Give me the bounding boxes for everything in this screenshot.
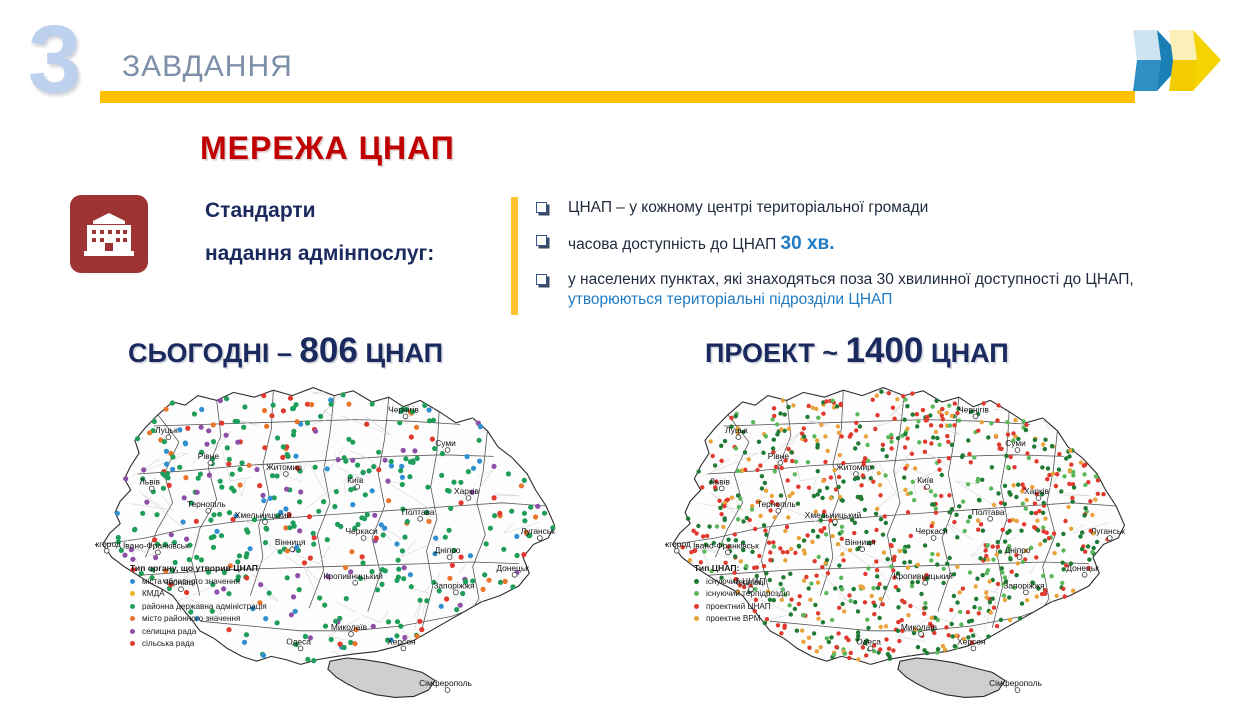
map-data-point xyxy=(305,657,310,662)
map-data-point xyxy=(830,534,834,538)
city-marker-icon xyxy=(284,472,289,477)
map-data-point xyxy=(778,546,782,550)
slide: 3 ЗАВДАННЯ МЕРЕЖА ЦНАП Стандарти xyxy=(0,0,1253,705)
map-data-point xyxy=(295,573,300,578)
map-data-point xyxy=(923,450,927,454)
map-data-point xyxy=(764,533,768,537)
map-data-point xyxy=(829,475,833,479)
map-data-point xyxy=(431,418,436,423)
map-data-point xyxy=(974,597,978,601)
map-data-point xyxy=(802,538,806,542)
map-data-point xyxy=(383,458,388,463)
map-data-point xyxy=(336,457,341,462)
map-data-point xyxy=(719,444,723,448)
map-data-point xyxy=(338,642,343,647)
city-label: Херсон xyxy=(387,636,416,646)
map-data-point xyxy=(305,420,310,425)
map-data-point xyxy=(995,624,999,628)
map-data-point xyxy=(291,594,296,599)
map-data-point xyxy=(957,504,961,508)
map-data-point xyxy=(1038,542,1042,546)
rayon-border xyxy=(473,639,496,652)
map-data-point xyxy=(891,648,895,652)
map-data-point xyxy=(838,495,842,499)
map-data-point xyxy=(1050,444,1054,448)
map-data-point xyxy=(405,519,410,524)
map-data-point xyxy=(1019,529,1023,533)
city-label: Одеса xyxy=(286,636,311,646)
map-data-point xyxy=(1003,598,1007,602)
map-data-point xyxy=(322,603,327,608)
map-data-point xyxy=(686,517,690,521)
map-data-point xyxy=(1072,485,1076,489)
map-data-point xyxy=(161,486,166,491)
map-data-point xyxy=(521,552,526,557)
map-data-point xyxy=(394,541,399,546)
map-data-point xyxy=(288,396,293,401)
map-data-point xyxy=(217,512,222,517)
map-data-point xyxy=(951,634,955,638)
map-data-point xyxy=(930,616,934,620)
map-data-point xyxy=(911,480,915,484)
map-data-point xyxy=(1005,420,1009,424)
map-data-point xyxy=(854,428,858,432)
map-data-point xyxy=(950,414,954,418)
map-data-point xyxy=(757,554,761,558)
map-data-point xyxy=(816,534,820,538)
city-marker-icon xyxy=(925,484,930,489)
city-marker-icon xyxy=(208,460,213,465)
map-data-point xyxy=(1093,497,1097,501)
map-data-point xyxy=(807,486,811,490)
map-data-point xyxy=(892,538,896,542)
city-label: Суми xyxy=(435,438,456,448)
map-data-point xyxy=(919,592,923,596)
rayon-border xyxy=(1087,399,1117,415)
map-data-point xyxy=(302,560,307,565)
map-data-point xyxy=(977,498,981,502)
map-data-point xyxy=(1071,589,1075,593)
map-data-point xyxy=(834,645,838,649)
map-data-point xyxy=(477,438,482,443)
map-data-point xyxy=(363,492,368,497)
map-data-point xyxy=(1092,546,1096,550)
checkbox-bullet-icon xyxy=(536,202,547,213)
city-marker-icon xyxy=(919,632,924,637)
map-data-point xyxy=(451,480,456,485)
map-heading-project-count: 1400 xyxy=(845,331,923,370)
map-data-point xyxy=(697,469,701,473)
map-data-point xyxy=(934,430,938,434)
map-data-point xyxy=(818,528,822,532)
legend-row: місто районного значення xyxy=(130,614,267,623)
map-data-point xyxy=(385,479,390,484)
map-data-point xyxy=(1004,454,1008,458)
map-data-point xyxy=(1003,502,1007,506)
map-data-point xyxy=(147,430,152,435)
map-data-point xyxy=(903,466,907,470)
map-data-point xyxy=(123,476,128,481)
map-data-point xyxy=(700,485,704,489)
map-data-point xyxy=(721,525,725,529)
map-heading-project-pre: ПРОЕКТ ~ xyxy=(705,338,845,368)
map-data-point xyxy=(522,511,527,516)
map-data-point xyxy=(882,550,886,554)
city-label: Сімферополь xyxy=(989,678,1042,688)
legend-color-dot-icon xyxy=(694,604,699,609)
map-data-point xyxy=(996,545,1000,549)
map-data-point xyxy=(231,488,236,493)
city-marker-icon xyxy=(931,536,936,541)
city-label: Тернопіль xyxy=(757,499,797,509)
map-data-point xyxy=(1007,595,1011,599)
checkbox-bullet-icon xyxy=(536,235,547,246)
map-data-point xyxy=(996,403,1000,407)
map-data-point xyxy=(961,499,965,503)
map-data-point xyxy=(819,423,823,427)
map-data-point xyxy=(717,499,721,503)
map-data-point xyxy=(887,391,891,395)
map-data-point xyxy=(903,445,907,449)
city-marker-icon xyxy=(290,547,295,552)
bullet-text-run: ЦНАП – у кожному центрі територіальної г… xyxy=(568,199,928,216)
city-marker-icon xyxy=(401,646,406,651)
rayon-border xyxy=(1043,639,1066,652)
map-data-point xyxy=(468,553,473,558)
rayon-border xyxy=(669,611,696,639)
map-data-point xyxy=(873,427,877,431)
map-data-point xyxy=(950,443,954,447)
map-data-point xyxy=(199,425,204,430)
map-data-point xyxy=(280,455,285,460)
map-data-point xyxy=(1063,594,1067,598)
map-data-point xyxy=(883,586,887,590)
city-label: Київ xyxy=(347,475,364,485)
map-heading-today-post: ЦНАП xyxy=(358,338,443,368)
map-data-point xyxy=(807,636,811,640)
map-data-point xyxy=(785,525,789,529)
city-marker-icon xyxy=(353,580,358,585)
map-data-point xyxy=(318,414,323,419)
map-data-point xyxy=(528,505,533,510)
map-data-point xyxy=(886,435,890,439)
map-data-point xyxy=(813,559,817,563)
map-data-point xyxy=(816,469,820,473)
map-data-point xyxy=(454,607,459,612)
map-data-point xyxy=(902,475,906,479)
map-data-point xyxy=(418,598,423,603)
city-label: Дніпро xyxy=(435,545,461,555)
map-data-point xyxy=(802,434,806,438)
map-data-point xyxy=(780,466,784,470)
city-label: Львів xyxy=(139,476,160,486)
map-data-point xyxy=(141,467,146,472)
map-data-point xyxy=(906,613,910,617)
map-data-point xyxy=(409,434,414,439)
map-data-point xyxy=(860,585,864,589)
map-data-point xyxy=(426,519,431,524)
map-data-point xyxy=(805,533,809,537)
city-marker-icon xyxy=(988,516,993,521)
map-data-point xyxy=(806,460,810,464)
map-data-point xyxy=(734,414,738,418)
map-data-point xyxy=(311,658,316,663)
map-data-point xyxy=(934,507,938,511)
map-data-point xyxy=(813,603,817,607)
legend-row: існуючий терпідрозділ xyxy=(694,589,790,598)
map-data-point xyxy=(779,493,783,497)
map-data-point xyxy=(878,493,882,497)
map-data-point xyxy=(793,551,797,555)
map-data-point xyxy=(865,618,869,622)
map-data-point xyxy=(329,402,334,407)
map-data-point xyxy=(856,630,860,634)
city-label: Полтава xyxy=(972,507,1005,517)
map-data-point xyxy=(905,427,909,431)
map-data-point xyxy=(1041,442,1045,446)
map-data-point xyxy=(923,543,927,547)
map-data-point xyxy=(863,508,867,512)
map-data-point xyxy=(817,555,821,559)
map-data-point xyxy=(909,534,913,538)
map-data-point xyxy=(812,494,816,498)
map-data-point xyxy=(836,485,840,489)
city-marker-icon xyxy=(445,688,450,693)
map-data-point xyxy=(1061,548,1065,552)
map-data-point xyxy=(996,582,1000,586)
map-data-point xyxy=(1025,598,1029,602)
map-data-point xyxy=(533,514,538,519)
map-data-point xyxy=(883,473,887,477)
standards-text: Стандарти надання адмінпослуг: xyxy=(205,200,505,286)
map-data-point xyxy=(848,548,852,552)
map-data-point xyxy=(1087,557,1091,561)
map-data-point xyxy=(736,517,740,521)
rayon-border xyxy=(665,577,675,588)
map-data-point xyxy=(947,493,951,497)
map-data-point xyxy=(224,396,229,401)
map-data-point xyxy=(774,465,778,469)
city-marker-icon xyxy=(971,646,976,651)
map-data-point xyxy=(841,558,845,562)
legend-label: КМДА xyxy=(142,589,165,598)
map-data-point xyxy=(797,602,801,606)
map-data-point xyxy=(263,540,268,545)
map-data-point xyxy=(840,602,844,606)
map-data-point xyxy=(365,512,370,517)
map-data-point xyxy=(824,591,828,595)
bullet-item: ЦНАП – у кожному центрі територіальної г… xyxy=(532,198,1232,218)
map-data-point xyxy=(945,434,949,438)
map-data-point xyxy=(994,434,998,438)
map-data-point xyxy=(864,434,868,438)
legend-row: проектне ВРМ xyxy=(694,614,790,623)
map-data-point xyxy=(1080,530,1084,534)
map-data-point xyxy=(1003,575,1007,579)
map-data-point xyxy=(952,423,956,427)
map-data-point xyxy=(836,424,840,428)
map-data-point xyxy=(939,494,943,498)
map-data-point xyxy=(826,449,830,453)
city-marker-icon xyxy=(833,520,838,525)
map-data-point xyxy=(297,528,302,533)
city-label: Кропивницький xyxy=(324,571,384,581)
map-data-point xyxy=(839,576,843,580)
map-data-point xyxy=(325,466,330,471)
map-data-point xyxy=(1032,444,1036,448)
map-data-point xyxy=(396,567,401,572)
city-label: Полтава xyxy=(402,507,435,517)
map-data-point xyxy=(908,604,912,608)
map-data-point xyxy=(1061,532,1065,536)
map-data-point xyxy=(204,442,209,447)
map-data-point xyxy=(955,600,959,604)
map-data-point xyxy=(501,547,506,552)
map-data-point xyxy=(177,465,182,470)
map-data-point xyxy=(897,639,901,643)
city-label: Одеса xyxy=(856,636,881,646)
map-data-point xyxy=(238,482,243,487)
map-data-point xyxy=(350,502,355,507)
map-data-point xyxy=(460,591,465,596)
map-data-point xyxy=(733,554,737,558)
map-data-point xyxy=(892,555,896,559)
map-data-point xyxy=(853,477,857,481)
map-data-point xyxy=(240,460,245,465)
map-data-point xyxy=(800,628,804,632)
map-data-point xyxy=(972,455,976,459)
map-data-point xyxy=(768,550,772,554)
map-data-point xyxy=(401,448,406,453)
map-project[interactable]: ЛуцькРівнеЛьвівЖитомирЧернігівКиївТерноп… xyxy=(665,378,1135,698)
map-data-point xyxy=(772,438,776,442)
map-data-point xyxy=(1043,447,1047,451)
city-marker-icon xyxy=(1024,590,1029,595)
city-label: Суми xyxy=(1005,438,1026,448)
map-data-point xyxy=(820,565,824,569)
map-data-point xyxy=(242,404,247,409)
map-data-point xyxy=(753,527,757,531)
map-data-point xyxy=(235,440,240,445)
map-data-point xyxy=(976,477,980,481)
map-data-point xyxy=(786,478,790,482)
map-data-point xyxy=(466,469,471,474)
map-data-point xyxy=(350,458,355,463)
map-data-point xyxy=(916,419,920,423)
map-data-point xyxy=(835,404,839,408)
map-data-point xyxy=(809,581,813,585)
map-data-point xyxy=(771,540,775,544)
map-data-point xyxy=(796,485,800,489)
map-data-point xyxy=(995,418,999,422)
map-data-point xyxy=(881,602,885,606)
map-data-point xyxy=(958,610,962,614)
map-data-point xyxy=(1037,509,1041,513)
map-data-point xyxy=(764,434,768,438)
map-data-point xyxy=(812,631,816,635)
map-data-point xyxy=(772,414,776,418)
map-data-point xyxy=(275,620,280,625)
rayon-border xyxy=(1085,624,1117,668)
map-data-point xyxy=(908,560,912,564)
map-data-point xyxy=(344,596,349,601)
map-data-point xyxy=(969,628,973,632)
map-data-point xyxy=(916,645,920,649)
city-marker-icon xyxy=(166,435,171,440)
map-data-point xyxy=(183,441,188,446)
map-data-point xyxy=(225,445,230,450)
map-data-point xyxy=(144,500,149,505)
rayon-border xyxy=(745,642,777,662)
rayon-border xyxy=(544,403,559,421)
map-data-point xyxy=(793,472,797,476)
map-data-point xyxy=(459,555,464,560)
map-data-point xyxy=(852,531,856,535)
city-label: Чернігів xyxy=(388,404,419,414)
map-data-point xyxy=(898,549,902,553)
map-data-point xyxy=(514,534,519,539)
map-data-point xyxy=(935,562,939,566)
map-data-point xyxy=(896,436,900,440)
map-data-point xyxy=(723,439,727,443)
map-data-point xyxy=(767,541,771,545)
map-data-point xyxy=(736,493,740,497)
map-data-point xyxy=(447,488,452,493)
map-data-point xyxy=(235,419,240,424)
map-data-point xyxy=(277,549,282,554)
map-data-point xyxy=(355,463,360,468)
map-data-point xyxy=(990,465,994,469)
map-data-point xyxy=(271,403,276,408)
map-heading-project: ПРОЕКТ ~ 1400 ЦНАП xyxy=(705,331,1009,371)
map-data-point xyxy=(309,402,314,407)
city-marker-icon xyxy=(854,472,859,477)
map-data-point xyxy=(896,588,900,592)
city-label: Луцьк xyxy=(155,425,178,435)
map-data-point xyxy=(903,549,907,553)
map-data-point xyxy=(910,391,914,395)
map-data-point xyxy=(821,620,825,624)
map-data-point xyxy=(931,404,935,408)
map-data-point xyxy=(408,572,413,577)
map-data-point xyxy=(218,398,223,403)
map-data-point xyxy=(772,544,776,548)
map-data-point xyxy=(1036,528,1040,532)
map-data-point xyxy=(763,481,767,485)
map-data-point xyxy=(491,464,496,469)
city-marker-icon xyxy=(719,486,724,491)
map-data-point xyxy=(995,552,999,556)
map-data-point xyxy=(522,478,527,483)
map-data-point xyxy=(881,443,885,447)
map-data-point xyxy=(889,440,893,444)
map-data-point xyxy=(311,531,316,536)
map-data-point xyxy=(1066,505,1070,509)
legend-label: проектне ВРМ xyxy=(706,614,761,623)
city-marker-icon xyxy=(1082,572,1087,577)
rayon-border xyxy=(515,624,547,668)
map-data-point xyxy=(509,509,514,514)
map-data-point xyxy=(371,464,376,469)
map-data-point xyxy=(192,411,197,416)
rayon-border xyxy=(692,626,710,665)
map-data-point xyxy=(978,556,982,560)
map-data-point xyxy=(955,535,959,539)
legend-title: Тип ЦНАП: xyxy=(694,563,790,573)
map-data-point xyxy=(1032,525,1036,529)
map-data-point xyxy=(343,459,348,464)
map-data-point xyxy=(195,490,200,495)
